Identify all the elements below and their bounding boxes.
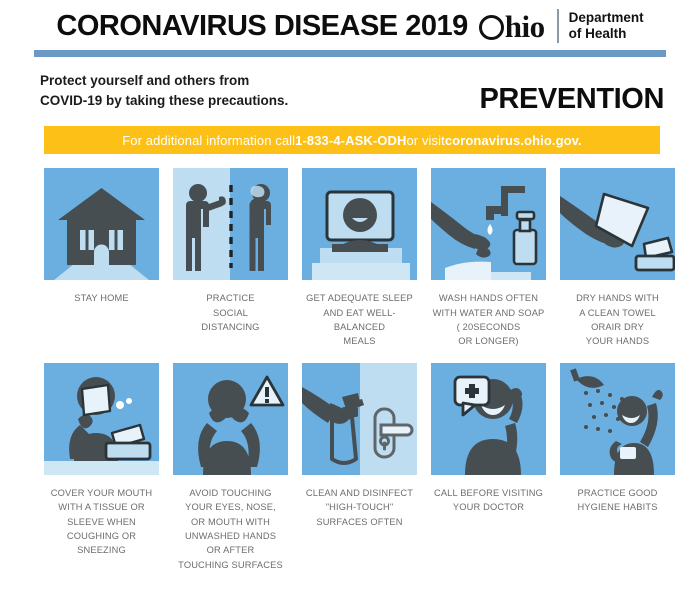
tip-card-avoid-touching-face: AVOID TOUCHING YOUR EYES, NOSE, OR MOUTH… <box>173 363 288 572</box>
infographic-sheet: CORONAVIRUS DISEASE 2019 hio Department … <box>0 0 700 614</box>
caption-line: HYGIENE HABITS <box>560 500 675 514</box>
caption-line: MEALS <box>302 334 417 348</box>
department-name: Department of Health <box>569 10 644 42</box>
tip-card-dry-hands: DRY HANDS WITH A CLEAN TOWEL ORAIR DRY Y… <box>560 168 675 349</box>
ohio-logo: hio <box>479 11 545 42</box>
avoid-touching-face-warning-icon <box>173 363 288 475</box>
tip-caption: CALL BEFORE VISITING YOUR DOCTOR <box>431 486 546 515</box>
section-title: PREVENTION <box>479 85 664 114</box>
tip-caption: PRACTICE GOOD HYGIENE HABITS <box>560 486 675 515</box>
info-banner: For additional information call 1-833-4-… <box>44 126 660 154</box>
caption-line: WITH A TISSUE OR <box>44 500 159 514</box>
ohio-logo-word: hio <box>505 11 545 42</box>
tip-card-call-doctor: CALL BEFORE VISITING YOUR DOCTOR <box>431 363 546 572</box>
header-blue-divider <box>34 50 666 57</box>
caption-line: A CLEAN TOWEL <box>560 306 675 320</box>
subhead-text: Protect yourself and others from COVID-1… <box>40 71 288 110</box>
caption-line: AVOID TOUCHING <box>173 486 288 500</box>
caption-line: OR AFTER <box>173 543 288 557</box>
caption-line: OR MOUTH WITH <box>173 515 288 529</box>
tip-card-clean-disinfect: CLEAN AND DISINFECT "HIGH-TOUCH" SURFACE… <box>302 363 417 572</box>
cover-mouth-tissue-icon <box>44 363 159 475</box>
banner-prefix: For additional information call <box>122 133 295 148</box>
tip-card-stay-home: STAY HOME <box>44 168 159 349</box>
circle-o-icon <box>479 15 504 40</box>
caption-line: COVER YOUR MOUTH <box>44 486 159 500</box>
wash-hands-faucet-soap-icon <box>431 168 546 280</box>
tip-card-sleep-and-eat: GET ADEQUATE SLEEP AND EAT WELL- BALANCE… <box>302 168 417 349</box>
caption-line: SURFACES OFTEN <box>302 515 417 529</box>
caption-line: DRY HANDS WITH <box>560 291 675 305</box>
social-distancing-icon <box>173 168 288 280</box>
tip-caption: AVOID TOUCHING YOUR EYES, NOSE, OR MOUTH… <box>173 486 288 572</box>
caption-line: DISTANCING <box>173 320 288 334</box>
dry-hands-towel-icon <box>560 168 675 280</box>
subhead: Protect yourself and others from COVID-1… <box>0 57 700 110</box>
phone-call-doctor-icon <box>431 363 546 475</box>
caption-line: "HIGH-TOUCH" <box>302 500 417 514</box>
caption-line: COUGHING OR SNEEZING <box>44 529 159 558</box>
tip-caption: CLEAN AND DISINFECT "HIGH-TOUCH" SURFACE… <box>302 486 417 529</box>
department-line-1: Department <box>569 10 644 26</box>
department-line-2: of Health <box>569 26 644 42</box>
caption-line: AND EAT WELL- <box>302 306 417 320</box>
caption-line: WITH WATER AND SOAP <box>431 306 546 320</box>
caption-line: BALANCED <box>302 320 417 334</box>
tip-caption: WASH HANDS OFTEN WITH WATER AND SOAP ( 2… <box>431 291 546 349</box>
tip-caption: STAY HOME <box>44 291 159 305</box>
tip-card-cover-mouth: COVER YOUR MOUTH WITH A TISSUE OR SLEEVE… <box>44 363 159 572</box>
subhead-line-1: Protect yourself and others from <box>40 71 288 91</box>
banner-middle: or visit <box>406 133 444 148</box>
tip-card-social-distancing: PRACTICE SOCIAL DISTANCING <box>173 168 288 349</box>
tip-card-wash-hands: WASH HANDS OFTEN WITH WATER AND SOAP ( 2… <box>431 168 546 349</box>
caption-line: PRACTICE <box>173 291 288 305</box>
header-divider-rule <box>557 9 559 43</box>
caption-line: ORAIR DRY <box>560 320 675 334</box>
caption-line: CLEAN AND DISINFECT <box>302 486 417 500</box>
spray-bottle-door-handle-icon <box>302 363 417 475</box>
person-in-bed-sleeping-icon <box>302 168 417 280</box>
caption-line: YOUR HANDS <box>560 334 675 348</box>
caption-line: YOUR DOCTOR <box>431 500 546 514</box>
banner-phone[interactable]: 1-833-4-ASK-ODH <box>295 133 406 148</box>
caption-line: SLEEVE WHEN <box>44 515 159 529</box>
header: CORONAVIRUS DISEASE 2019 hio Department … <box>0 0 700 48</box>
caption-line: TOUCHING SURFACES <box>173 558 288 572</box>
banner-url[interactable]: coronavirus.ohio.gov. <box>445 133 582 148</box>
tip-caption: GET ADEQUATE SLEEP AND EAT WELL- BALANCE… <box>302 291 417 349</box>
page-title: CORONAVIRUS DISEASE 2019 <box>56 10 467 43</box>
tip-caption: COVER YOUR MOUTH WITH A TISSUE OR SLEEVE… <box>44 486 159 558</box>
caption-line: YOUR EYES, NOSE, <box>173 500 288 514</box>
caption-line: SOCIAL <box>173 306 288 320</box>
tip-caption: PRACTICE SOCIAL DISTANCING <box>173 291 288 334</box>
subhead-line-2: COVID-19 by taking these precautions. <box>40 91 288 111</box>
caption-line: STAY HOME <box>44 291 159 305</box>
caption-line: UNWASHED HANDS <box>173 529 288 543</box>
tip-caption: DRY HANDS WITH A CLEAN TOWEL ORAIR DRY Y… <box>560 291 675 349</box>
caption-line: PRACTICE GOOD <box>560 486 675 500</box>
caption-line: CALL BEFORE VISITING <box>431 486 546 500</box>
house-icon <box>44 168 159 280</box>
caption-line: OR LONGER) <box>431 334 546 348</box>
caption-line: GET ADEQUATE SLEEP <box>302 291 417 305</box>
tips-row-1: STAY HOME <box>0 168 700 349</box>
caption-line: ( 20SECONDS <box>431 320 546 334</box>
tip-card-hygiene: PRACTICE GOOD HYGIENE HABITS <box>560 363 675 572</box>
shower-hygiene-icon <box>560 363 675 475</box>
caption-line: WASH HANDS OFTEN <box>431 291 546 305</box>
tips-row-2: COVER YOUR MOUTH WITH A TISSUE OR SLEEVE… <box>0 363 700 572</box>
